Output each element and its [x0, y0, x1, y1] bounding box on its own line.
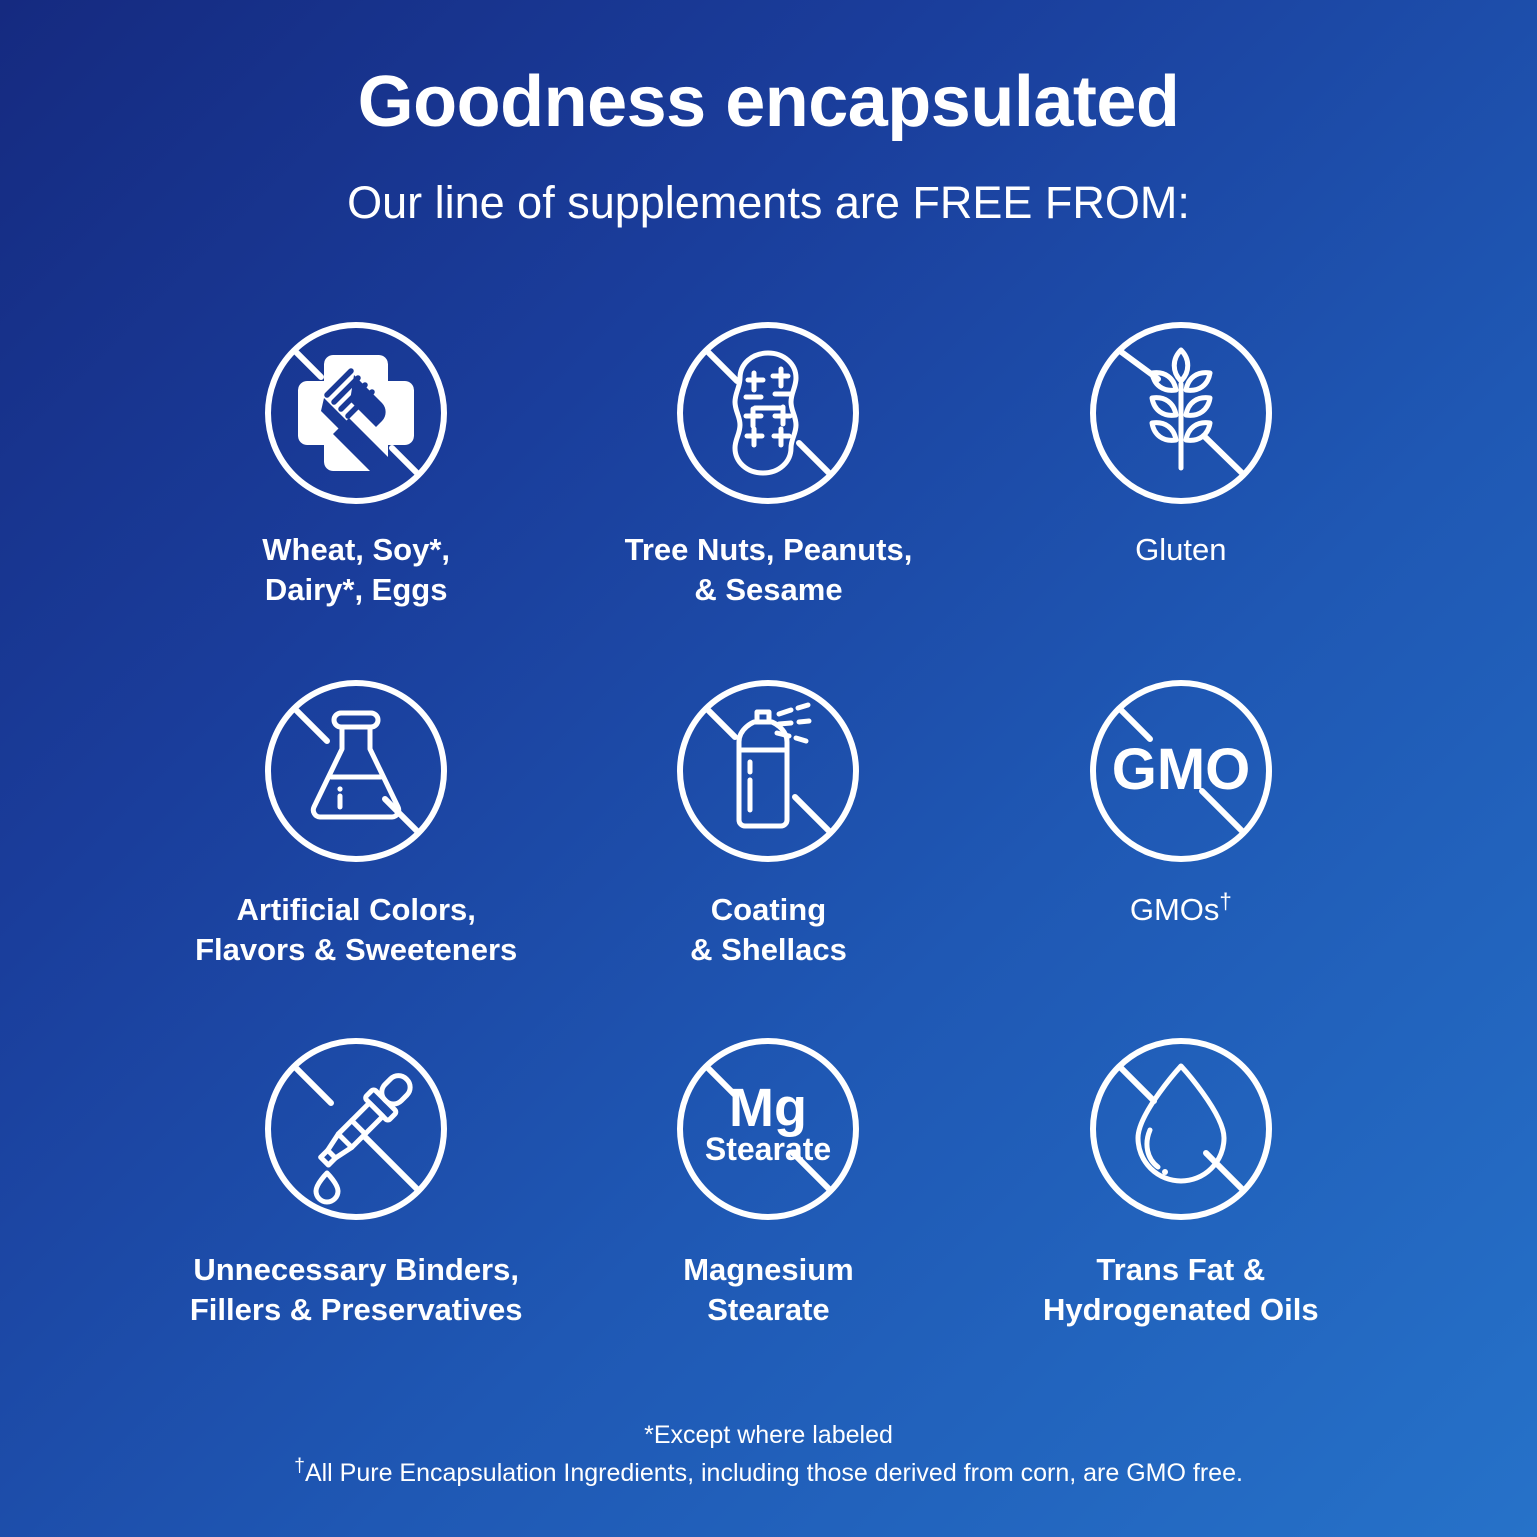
free-from-item: Trans Fat & Hydrogenated Oils	[975, 1034, 1387, 1392]
dagger-marker: †	[294, 1455, 305, 1477]
no-allergen-cross-fork-icon	[261, 318, 451, 508]
free-from-label: Trans Fat & Hydrogenated Oils	[1043, 1250, 1319, 1331]
no-magnesium-stearate-icon: Mg Stearate	[673, 1034, 863, 1224]
free-from-item: GMO GMOs†	[975, 676, 1387, 1034]
free-from-label: GMOs†	[1130, 890, 1232, 930]
free-from-label: Unnecessary Binders, Fillers & Preservat…	[190, 1250, 523, 1331]
stearate-icon-text: Stearate	[705, 1131, 831, 1167]
free-from-item: Coating & Shellacs	[562, 676, 974, 1034]
free-from-label: Tree Nuts, Peanuts, & Sesame	[625, 530, 913, 611]
footnotes: *Except where labeled †All Pure Encapsul…	[0, 1416, 1537, 1494]
mg-icon-text: Mg	[730, 1078, 808, 1138]
free-from-item: Gluten	[975, 318, 1387, 676]
gmo-icon-text: GMO	[1112, 737, 1251, 802]
footnote-dagger: †All Pure Encapsulation Ingredients, inc…	[0, 1454, 1537, 1493]
no-wheat-stalk-icon	[1086, 318, 1276, 508]
no-flask-icon	[261, 676, 451, 866]
free-from-item: Wheat, Soy*, Dairy*, Eggs	[150, 318, 562, 676]
free-from-label: Wheat, Soy*, Dairy*, Eggs	[262, 530, 450, 611]
page-title: Goodness encapsulated	[0, 66, 1537, 138]
infographic-canvas: Goodness encapsulated Our line of supple…	[0, 0, 1537, 1537]
free-from-label: Gluten	[1135, 530, 1226, 570]
free-from-item: Unnecessary Binders, Fillers & Preservat…	[150, 1034, 562, 1392]
no-peanut-icon	[673, 318, 863, 508]
header: Goodness encapsulated Our line of supple…	[0, 66, 1537, 225]
no-gmo-icon: GMO	[1086, 676, 1276, 866]
no-oil-droplet-icon	[1086, 1034, 1276, 1224]
free-from-item: Artificial Colors, Flavors & Sweeteners	[150, 676, 562, 1034]
page-subtitle: Our line of supplements are FREE FROM:	[0, 180, 1537, 225]
free-from-label: Artificial Colors, Flavors & Sweeteners	[195, 890, 517, 971]
no-spray-can-icon	[673, 676, 863, 866]
free-from-grid: Wheat, Soy*, Dairy*, Eggs	[150, 318, 1387, 1392]
free-from-label: Coating & Shellacs	[690, 890, 847, 971]
free-from-item: Tree Nuts, Peanuts, & Sesame	[562, 318, 974, 676]
no-dropper-icon	[261, 1034, 451, 1224]
footnote-asterisk: *Except where labeled	[0, 1416, 1537, 1455]
dagger-marker: †	[1219, 889, 1231, 914]
free-from-label: Magnesium Stearate	[683, 1250, 854, 1331]
free-from-item: Mg Stearate Magnesium Stearate	[562, 1034, 974, 1392]
